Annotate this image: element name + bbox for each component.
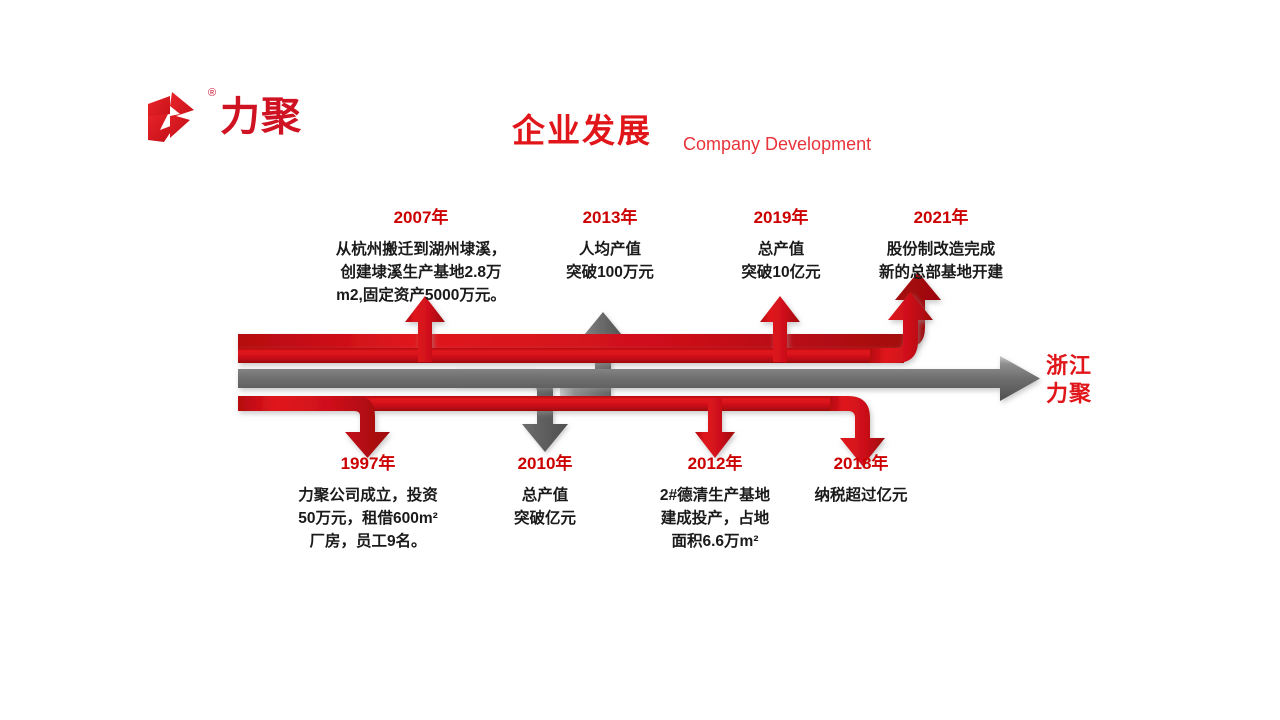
milestone-description: 2#德清生产基地 建成投产，占地 面积6.6万m² — [635, 484, 795, 553]
milestone-2019: 2019年 总产值 突破10亿元 — [698, 206, 864, 284]
milestone-year: 2007年 — [296, 206, 546, 230]
milestone-1997: 1997年 力聚公司成立，投资 50万元，租借600m² 厂房，员工9名。 — [255, 452, 481, 553]
milestone-2007: 2007年 从杭州搬迁到湖州埭溪， 创建埭溪生产基地2.8万 m2,固定资产50… — [296, 206, 546, 307]
milestone-description: 股份制改造完成 新的总部基地开建 — [851, 238, 1031, 284]
milestone-2010: 2010年 总产值 突破亿元 — [468, 452, 622, 530]
milestone-description: 从杭州搬迁到湖州埭溪， 创建埭溪生产基地2.8万 m2,固定资产5000万元。 — [296, 238, 546, 307]
milestone-description: 总产值 突破亿元 — [468, 484, 622, 530]
milestone-2013: 2013年 人均产值 突破100万元 — [523, 206, 697, 284]
milestone-description: 力聚公司成立，投资 50万元，租借600m² 厂房，员工9名。 — [255, 484, 481, 553]
milestone-year: 1997年 — [255, 452, 481, 476]
milestone-year: 2019年 — [698, 206, 864, 230]
milestone-year: 2018年 — [783, 452, 939, 476]
milestone-year: 2021年 — [851, 206, 1031, 230]
slide-canvas: ® 力聚 企业发展 Company Development — [0, 0, 1280, 720]
milestone-description: 人均产值 突破100万元 — [523, 238, 697, 284]
milestone-2012: 2012年 2#德清生产基地 建成投产，占地 面积6.6万m² — [635, 452, 795, 553]
timeline-end-label: 浙江 力聚 — [1046, 352, 1092, 408]
milestone-description: 纳税超过亿元 — [783, 484, 939, 507]
milestone-2018: 2018年 纳税超过亿元 — [783, 452, 939, 507]
milestone-year: 2013年 — [523, 206, 697, 230]
milestone-description: 总产值 突破10亿元 — [698, 238, 864, 284]
end-label-line2: 力聚 — [1046, 380, 1092, 408]
end-label-line1: 浙江 — [1046, 352, 1092, 380]
milestone-year: 2012年 — [635, 452, 795, 476]
milestone-year: 2010年 — [468, 452, 622, 476]
milestone-2021: 2021年 股份制改造完成 新的总部基地开建 — [851, 206, 1031, 284]
